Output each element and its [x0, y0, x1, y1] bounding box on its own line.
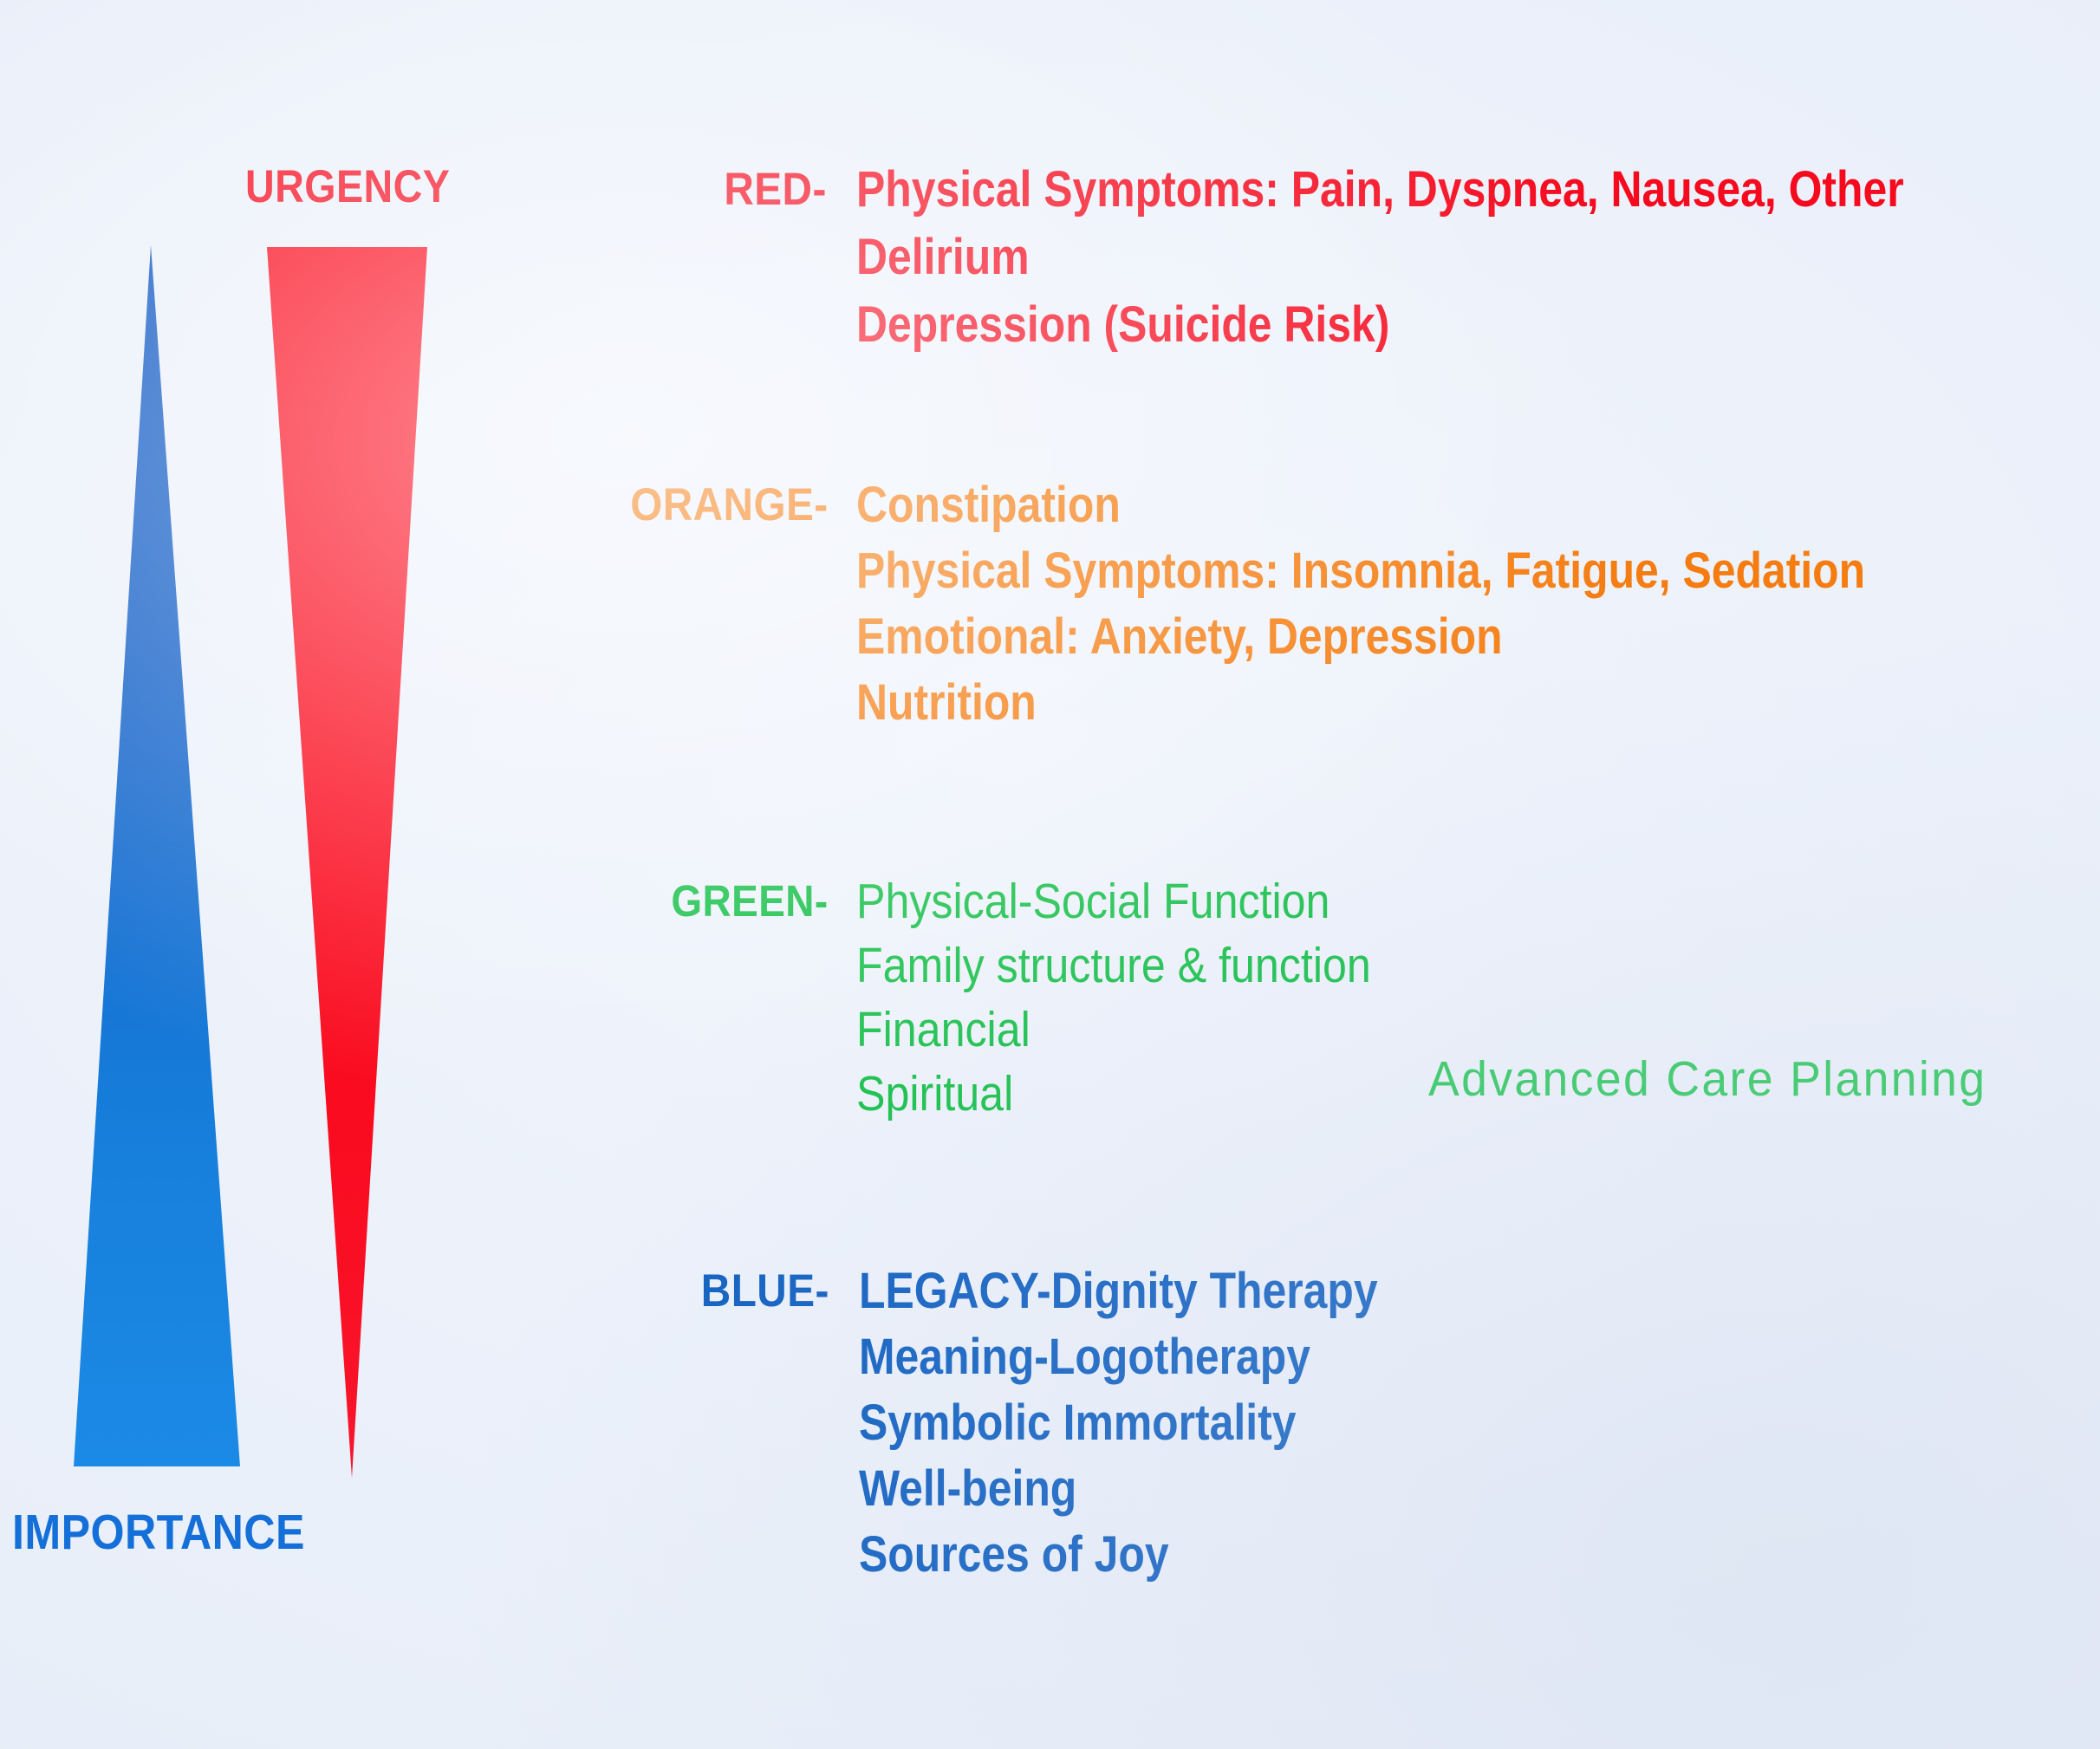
- priority-item: Physical-Social Function: [856, 869, 1371, 933]
- triangle-diagram: [0, 0, 537, 1749]
- priority-key-orange: ORANGE-: [602, 472, 856, 538]
- advanced-care-planning-note: Advanced Care Planning: [1428, 1050, 1986, 1108]
- slide-canvas: URGENCY IMPORTANCE RED- Physical Symptom…: [0, 0, 2100, 1749]
- priority-item: Emotional: Anxiety, Depression: [856, 604, 1865, 670]
- priority-item: Spiritual: [856, 1062, 1371, 1126]
- priority-lines-orange: Constipation Physical Symptoms: Insomnia…: [856, 472, 2030, 736]
- importance-axis-label: IMPORTANCE: [12, 1504, 305, 1561]
- priority-item: LEGACY-Dignity Therapy: [859, 1258, 1378, 1324]
- priority-lines-green: Physical-Social Function Family structur…: [856, 869, 1441, 1126]
- priority-item: Delirium: [856, 224, 1904, 291]
- priority-item: Financial: [856, 998, 1371, 1062]
- priority-key-blue: BLUE-: [681, 1258, 859, 1324]
- priority-block-orange: ORANGE- Constipation Physical Symptoms: …: [574, 472, 2030, 736]
- priority-key-red: RED-: [679, 156, 856, 224]
- priority-lines-blue: LEGACY-Dignity Therapy Meaning-Logothera…: [859, 1258, 1462, 1588]
- priority-lines-red: Physical Symptoms: Pain, Dyspnea, Nausea…: [856, 156, 2074, 359]
- priority-block-green: GREEN- Physical-Social Function Family s…: [613, 869, 1441, 1126]
- priority-block-red: RED- Physical Symptoms: Pain, Dyspnea, N…: [659, 156, 2074, 359]
- priority-item: Physical Symptoms: Insomnia, Fatigue, Se…: [856, 538, 1865, 604]
- priority-item: Sources of Joy: [859, 1522, 1378, 1588]
- urgency-triangle: [267, 247, 427, 1478]
- priority-item: Symbolic Immortality: [859, 1390, 1378, 1456]
- priority-item: Well-being: [859, 1456, 1378, 1522]
- priority-block-blue: BLUE- LEGACY-Dignity Therapy Meaning-Log…: [661, 1258, 1462, 1588]
- priority-item: Constipation: [856, 472, 1865, 538]
- importance-triangle: [74, 245, 240, 1466]
- priority-item: Meaning-Logotherapy: [859, 1324, 1378, 1390]
- priority-key-green: GREEN-: [637, 869, 856, 933]
- priority-item: Physical Symptoms: Pain, Dyspnea, Nausea…: [856, 156, 1904, 224]
- priority-item: Family structure & function: [856, 933, 1371, 998]
- priority-item: Nutrition: [856, 670, 1865, 736]
- priority-item: Depression (Suicide Risk): [856, 291, 1904, 359]
- urgency-axis-label: URGENCY: [245, 160, 450, 213]
